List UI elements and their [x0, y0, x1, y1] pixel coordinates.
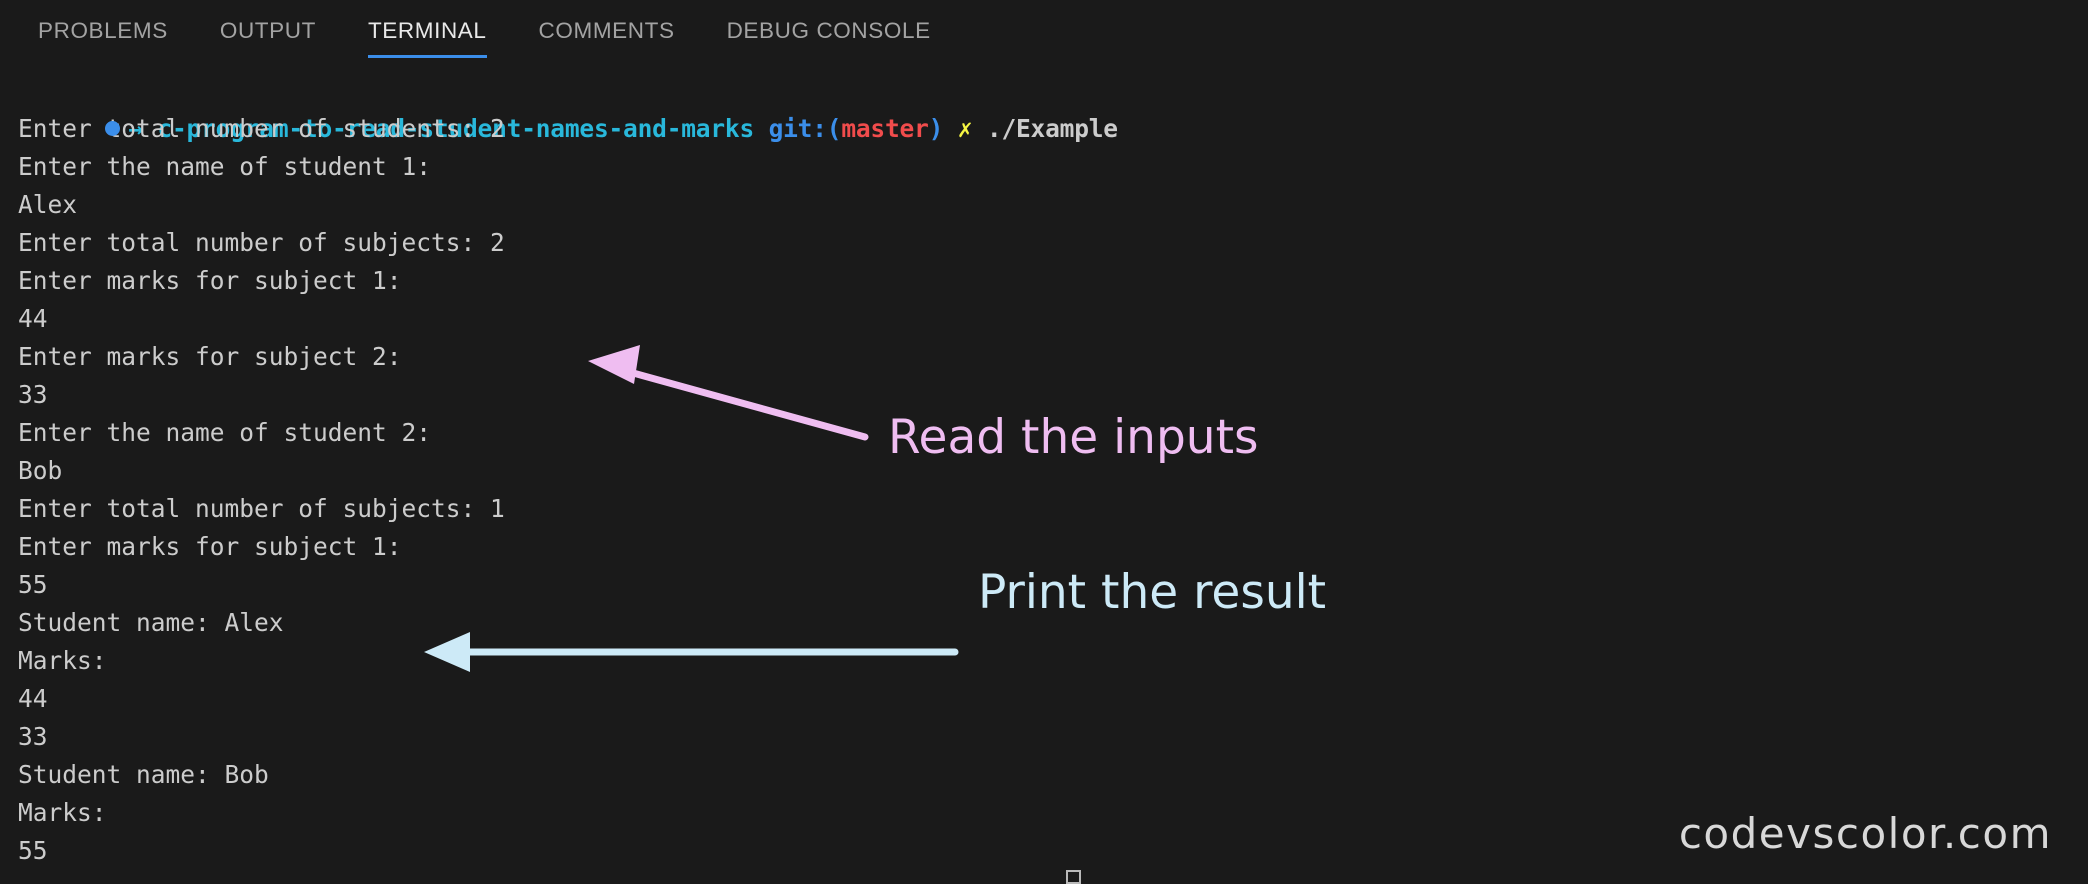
tab-comments-label: COMMENTS	[539, 18, 675, 43]
tab-problems[interactable]: PROBLEMS	[38, 18, 168, 58]
tab-comments[interactable]: COMMENTS	[539, 18, 675, 58]
tab-terminal-label: TERMINAL	[368, 18, 487, 43]
tab-problems-label: PROBLEMS	[38, 18, 168, 43]
terminal-line: 55	[18, 566, 2088, 604]
tab-debug-console-label: DEBUG CONSOLE	[727, 18, 931, 43]
terminal-line: Enter marks for subject 1:	[18, 262, 2088, 300]
tab-output-label: OUTPUT	[220, 18, 316, 43]
terminal-line: 33	[18, 718, 2088, 756]
prompt-git-close: )	[929, 114, 944, 143]
status-dot-icon	[105, 121, 120, 136]
terminal-line: 44	[18, 300, 2088, 338]
terminal-line: Alex	[18, 186, 2088, 224]
terminal-line: Enter marks for subject 1:	[18, 528, 2088, 566]
panel-tab-bar: PROBLEMS OUTPUT TERMINAL COMMENTS DEBUG …	[0, 0, 2088, 72]
terminal-line: 33	[18, 376, 2088, 414]
terminal-line: Bob	[18, 452, 2088, 490]
terminal-line: Enter total number of subjects: 1	[18, 490, 2088, 528]
prompt-git-branch: master	[841, 114, 928, 143]
terminal-cursor	[1066, 870, 1081, 884]
terminal-line: Enter total number of subjects: 2	[18, 224, 2088, 262]
tab-debug-console[interactable]: DEBUG CONSOLE	[727, 18, 931, 58]
site-watermark: codevscolor.com	[1679, 809, 2052, 858]
terminal-line: Student name: Bob	[18, 756, 2088, 794]
terminal-prompt-line: → c-program-to-read-student-names-and-ma…	[18, 72, 2088, 110]
prompt-status-mark-icon: ✗	[958, 114, 973, 143]
terminal-line: Enter the name of student 1:	[18, 148, 2088, 186]
terminal-line: Marks:	[18, 642, 2088, 680]
terminal-line: Enter the name of student 2:	[18, 414, 2088, 452]
prompt-git-open: git:(	[769, 114, 842, 143]
tab-terminal[interactable]: TERMINAL	[368, 18, 487, 58]
terminal-line: Enter marks for subject 2:	[18, 338, 2088, 376]
prompt-command: ./Example	[987, 114, 1118, 143]
terminal-line: Student name: Alex	[18, 604, 2088, 642]
tab-output[interactable]: OUTPUT	[220, 18, 316, 58]
terminal-line: 44	[18, 680, 2088, 718]
terminal-output-area[interactable]: → c-program-to-read-student-names-and-ma…	[0, 72, 2088, 884]
terminal-panel: PROBLEMS OUTPUT TERMINAL COMMENTS DEBUG …	[0, 0, 2088, 884]
